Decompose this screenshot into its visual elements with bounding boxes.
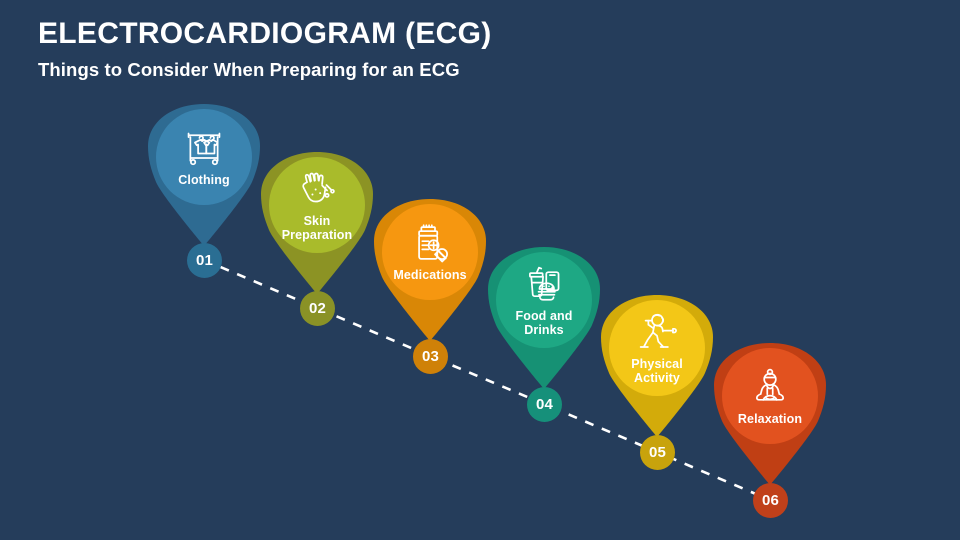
pin-label: Clothing — [178, 173, 229, 187]
step-pin-05[interactable]: PhysicalActivity — [601, 295, 713, 437]
exercise-person-icon — [635, 312, 679, 352]
step-number-text: 03 — [422, 348, 439, 365]
step-number-badge-04[interactable]: 04 — [527, 387, 562, 422]
step-number-text: 02 — [309, 300, 326, 317]
step-number-badge-02[interactable]: 02 — [300, 291, 335, 326]
pin-inner-circle: Medications — [382, 204, 478, 300]
step-number-badge-05[interactable]: 05 — [640, 435, 675, 470]
pin-label: Medications — [393, 268, 466, 282]
pin-inner-circle: SkinPreparation — [269, 157, 365, 253]
step-pin-01[interactable]: Clothing — [148, 104, 260, 246]
food-drinks-icon — [522, 264, 566, 304]
pill-bottle-icon — [408, 223, 452, 263]
pin-inner-circle: PhysicalActivity — [609, 300, 705, 396]
step-number-text: 01 — [196, 252, 213, 269]
pin-inner-circle: Clothing — [156, 109, 252, 205]
step-pin-06[interactable]: Relaxation — [714, 343, 826, 485]
step-number-text: 06 — [762, 492, 779, 509]
step-number-badge-01[interactable]: 01 — [187, 243, 222, 278]
step-pin-02[interactable]: SkinPreparation — [261, 152, 373, 294]
step-number-badge-03[interactable]: 03 — [413, 339, 448, 374]
pin-label: Relaxation — [738, 412, 802, 426]
step-number-text: 04 — [536, 396, 553, 413]
clothing-rack-icon — [182, 128, 226, 168]
pin-label: PhysicalActivity — [631, 357, 683, 385]
step-number-text: 05 — [649, 444, 666, 461]
meditation-person-icon — [748, 367, 792, 407]
pin-inner-circle: Food andDrinks — [496, 252, 592, 348]
slide-canvas: ELECTROCARDIOGRAM (ECG) Things to Consid… — [0, 0, 960, 540]
step-number-badge-06[interactable]: 06 — [753, 483, 788, 518]
pin-label: Food andDrinks — [515, 309, 572, 337]
pin-inner-circle: Relaxation — [722, 348, 818, 444]
hand-skin-icon — [295, 169, 339, 209]
step-pin-03[interactable]: Medications — [374, 199, 486, 341]
step-pin-04[interactable]: Food andDrinks — [488, 247, 600, 389]
pin-label: SkinPreparation — [282, 214, 353, 242]
